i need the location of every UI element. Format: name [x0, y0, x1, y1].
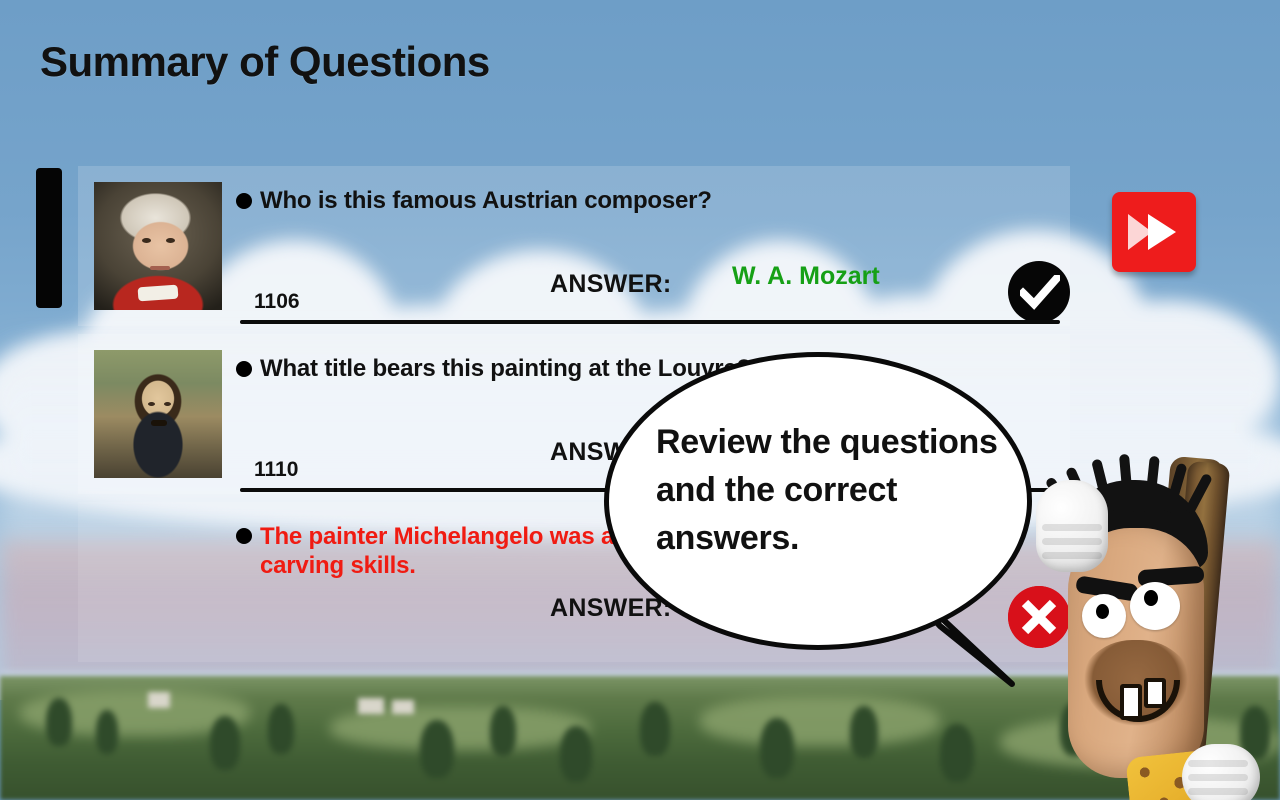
eye-right: [1130, 582, 1180, 630]
question-thumbnail-mona-lisa: [94, 350, 222, 478]
bullet-icon: [236, 193, 252, 209]
question-thumbnail-mozart: [94, 182, 222, 310]
pupil-right: [1144, 590, 1158, 606]
bullet-icon: [236, 528, 252, 544]
page-title: Summary of Questions: [40, 38, 490, 86]
tooth-right: [1144, 678, 1166, 708]
check-circle-icon: [1020, 275, 1060, 311]
question-row-1[interactable]: Who is this famous Austrian composer? 11…: [78, 166, 1070, 326]
question-number-2: 1110: [254, 458, 298, 482]
question-text-1: Who is this famous Austrian composer?: [260, 186, 712, 215]
fast-forward-icon: [1126, 208, 1182, 256]
speech-bubble-text: Review the questions and the correct ans…: [656, 418, 1014, 562]
answer-value-1: W. A. Mozart: [732, 262, 880, 291]
tooth-left: [1120, 684, 1142, 720]
answer-label-1: ANSWER:: [550, 270, 672, 299]
speech-bubble: Review the questions and the correct ans…: [604, 352, 1032, 650]
question-text-3-line2: carving skills.: [260, 551, 416, 580]
bullet-icon: [236, 361, 252, 377]
glove-hand-lower: [1182, 744, 1260, 800]
next-button[interactable]: [1112, 192, 1196, 272]
glove-hand-upper: [1036, 480, 1108, 572]
row-divider-1: [240, 320, 1060, 324]
question-number-1: 1106: [254, 290, 300, 314]
scroll-indicator[interactable]: [36, 168, 62, 308]
badge-correct-1: [1008, 261, 1070, 323]
